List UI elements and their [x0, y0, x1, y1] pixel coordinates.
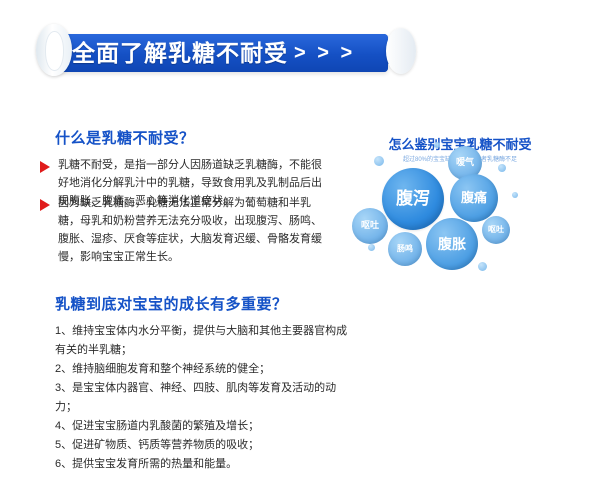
- arrow-bullet-icon: [40, 161, 50, 173]
- list-item: 6、提供宝宝发育所需的热量和能量。: [55, 455, 355, 474]
- banner-title: 全面了解乳糖不耐受: [72, 36, 288, 70]
- scroll-roll-icon-left: [36, 24, 72, 76]
- banner-arrows-icon: > > >: [294, 38, 355, 68]
- section-heading-what-is: 什么是乳糖不耐受？: [55, 127, 195, 148]
- list-item: 4、促进宝宝肠道内乳酸菌的繁殖及增长；: [55, 417, 355, 436]
- section1-bullet-2: 因为缺乏乳糖酶，乳糖无法正常分解为葡萄糖和半乳糖，母乳和奶粉营养无法充分吸收，出…: [58, 194, 328, 266]
- importance-list: 1、维持宝宝体内水分平衡，提供与大脑和其他主要器官构成有关的半乳糖； 2、维持脑…: [55, 322, 355, 474]
- symptom-bubble-bloating: 腹胀: [426, 218, 478, 270]
- symptom-bubble-borborygmus: 肠鸣: [388, 232, 422, 266]
- page-banner: 全面了解乳糖不耐受 > > >: [0, 0, 600, 100]
- decorative-dot-icon: [478, 262, 487, 271]
- list-item: 2、维持脑细胞发育和整个神经系统的健全；: [55, 360, 355, 379]
- decorative-dot-icon: [512, 192, 518, 198]
- scroll-roll-icon-right: [386, 28, 416, 74]
- decorative-dot-icon: [368, 244, 375, 251]
- symptom-bubble-abdominal-pain: 腹痛: [450, 174, 498, 222]
- symptom-bubble-vomiting-2: 呕吐: [482, 216, 510, 244]
- symptom-bubble-illustration: 怎么鉴别宝宝乳糖不耐受 超过80%的宝宝缺乏乳糖酶或者乳糖酶不足 嗳气 呕吐 肠…: [330, 120, 590, 280]
- decorative-dot-icon: [434, 142, 440, 148]
- symptom-bubble-diarrhea: 腹泻: [382, 168, 444, 230]
- decorative-dot-icon: [498, 164, 506, 172]
- symptom-bubble-vomiting: 呕吐: [352, 208, 388, 244]
- arrow-bullet-icon: [40, 199, 50, 211]
- list-item: 1、维持宝宝体内水分平衡，提供与大脑和其他主要器官构成有关的半乳糖；: [55, 322, 355, 360]
- decorative-dot-icon: [374, 156, 384, 166]
- section-heading-importance: 乳糖到底对宝宝的成长有多重要？: [55, 293, 288, 314]
- list-item: 5、促进矿物质、钙质等营养物质的吸收；: [55, 436, 355, 455]
- list-item: 3、是宝宝体内器官、神经、四肢、肌肉等发育及活动的动力；: [55, 379, 355, 417]
